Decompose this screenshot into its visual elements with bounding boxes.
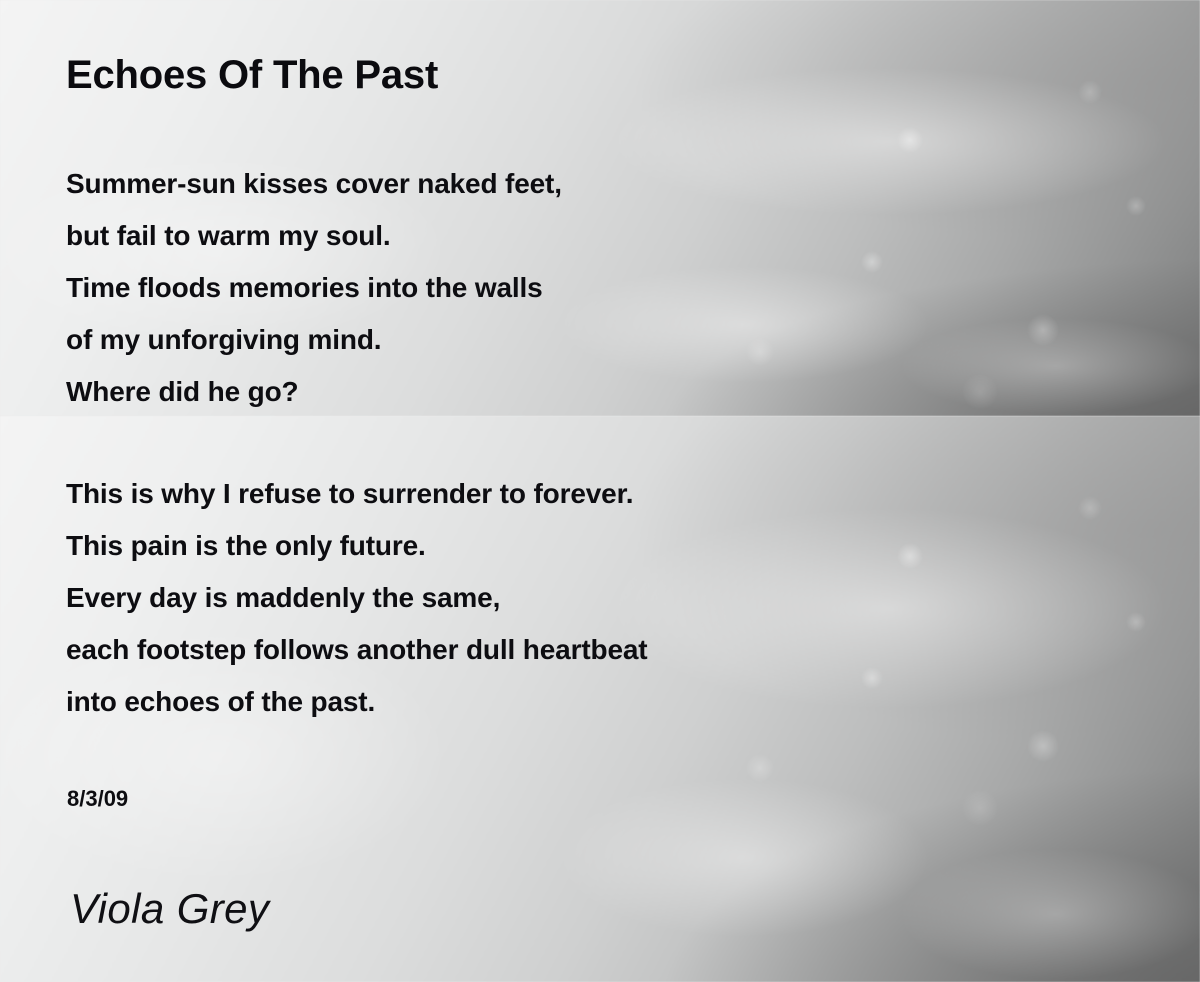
poem-line: Every day is maddenly the same,: [66, 572, 647, 624]
poem-date: 8/3/09: [67, 786, 128, 812]
poem-stanza-1: Summer-sun kisses cover naked feet, but …: [66, 158, 562, 418]
poem-line: This is why I refuse to surrender to for…: [66, 468, 647, 520]
poem-line: Summer-sun kisses cover naked feet,: [66, 158, 562, 210]
poem-line: each footstep follows another dull heart…: [66, 624, 647, 676]
poem-line: Time floods memories into the walls: [66, 262, 562, 314]
poem-line: This pain is the only future.: [66, 520, 647, 572]
poem-author-signature: Viola Grey: [70, 884, 269, 934]
poem-line: into echoes of the past.: [66, 676, 647, 728]
poem-line: of my unforgiving mind.: [66, 314, 562, 366]
poem-line: but fail to warm my soul.: [66, 210, 562, 262]
poem-text-layer: Echoes Of The Past Summer-sun kisses cov…: [0, 0, 1200, 982]
poem-card: Echoes Of The Past Summer-sun kisses cov…: [0, 0, 1200, 982]
poem-title: Echoes Of The Past: [66, 52, 438, 98]
poem-line: Where did he go?: [66, 366, 562, 418]
poem-stanza-2: This is why I refuse to surrender to for…: [66, 468, 647, 728]
